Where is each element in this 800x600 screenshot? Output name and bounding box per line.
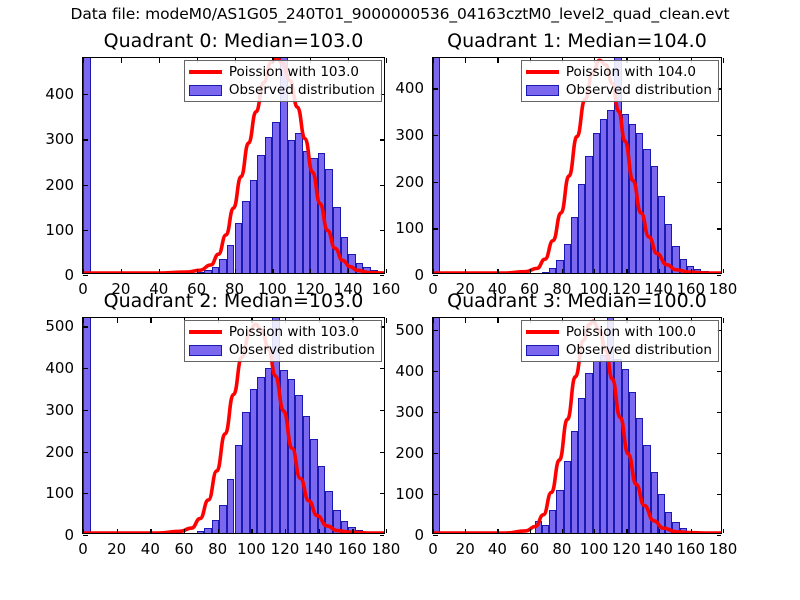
x-tick [83, 529, 84, 534]
histogram-bar [295, 395, 303, 533]
histogram-bar [556, 260, 563, 273]
histogram-bar [600, 119, 607, 273]
x-tick-top [433, 58, 434, 63]
y-tick-label: 300 [378, 126, 424, 144]
histogram-bar [564, 461, 571, 533]
x-tick [691, 269, 692, 274]
legend-label-poisson: Poission with 103.0 [229, 324, 359, 340]
x-tick-label: 120 [296, 280, 325, 298]
legend-entry-observed: Observed distribution [189, 342, 375, 358]
histogram-bar [549, 510, 556, 533]
x-tick-label: 40 [149, 280, 168, 298]
quadrant-3-legend[interactable]: Poission with 100.0Observed distribution [521, 320, 719, 362]
histogram-bar [356, 263, 364, 273]
quadrant-2-poisson-curve [83, 318, 384, 533]
x-tick-label: 20 [107, 540, 126, 558]
x-tick-top [594, 318, 595, 323]
histogram-bar [701, 271, 708, 273]
x-tick-top [562, 318, 563, 323]
legend-entry-poisson: Poission with 103.0 [189, 324, 375, 340]
y-tick [433, 228, 438, 229]
x-tick-label: 0 [428, 540, 438, 558]
y-tick-label: 100 [28, 484, 74, 502]
x-tick-top [235, 58, 236, 63]
legend-label-observed: Observed distribution [566, 342, 712, 358]
histogram-bar [687, 266, 694, 273]
x-tick-top [386, 318, 387, 323]
quadrant-3-title: Quadrant 3: Median=100.0 [432, 290, 722, 312]
panel-quadrant-1: Quadrant 1: Median=104.00100200300400020… [0, 0, 800, 600]
x-tick [386, 529, 387, 534]
histogram-bar [665, 224, 672, 273]
x-tick [319, 529, 320, 534]
x-tick-top [626, 318, 627, 323]
histogram-bar [585, 156, 592, 273]
x-tick [159, 269, 160, 274]
x-tick [530, 529, 531, 534]
histogram-bar [219, 259, 227, 273]
x-tick [497, 529, 498, 534]
quadrant-0-poisson-curve [83, 58, 384, 273]
x-tick [352, 529, 353, 534]
figure-suptitle: Data file: modeM0/AS1G05_240T01_90000005… [0, 5, 800, 23]
x-tick-top [150, 318, 151, 323]
y-tick-label: 100 [28, 221, 74, 239]
histogram-bar [257, 155, 265, 273]
x-tick-top [251, 318, 252, 323]
quadrant-2-title: Quadrant 2: Median=103.0 [82, 290, 385, 312]
histogram-bar [303, 151, 311, 273]
y-tick-label: 200 [28, 176, 74, 194]
x-tick-top [691, 58, 692, 63]
x-tick [121, 269, 122, 274]
histogram-bar [288, 379, 296, 533]
legend-entry-poisson: Poission with 103.0 [189, 64, 375, 80]
y-tick-label: 400 [28, 85, 74, 103]
x-tick-label: 0 [78, 540, 88, 558]
x-tick-top [497, 58, 498, 63]
x-tick-top [723, 318, 724, 323]
quadrant-2-axes: 0100200300400500020406080100120140160180… [82, 317, 385, 534]
quadrant-1-legend[interactable]: Poission with 104.0Observed distribution [521, 60, 719, 102]
x-tick-label: 100 [580, 540, 609, 558]
legend-entry-poisson: Poission with 104.0 [526, 64, 712, 80]
histogram-bar [651, 166, 658, 273]
legend-entry-poisson: Poission with 100.0 [526, 324, 712, 340]
quadrant-0-axes: 0100200300400020406080100120140160Poissi… [82, 57, 385, 274]
y-tick [83, 535, 88, 536]
y-tick [83, 493, 88, 494]
histogram-bar [204, 528, 212, 533]
x-tick [594, 269, 595, 274]
quadrant-2-legend[interactable]: Poission with 103.0Observed distribution [184, 320, 382, 362]
y-tick-right [380, 94, 385, 95]
histogram-bar [593, 133, 600, 273]
histogram-bar [242, 201, 250, 273]
histogram-bar [333, 207, 341, 273]
legend-line-swatch-icon [526, 326, 559, 339]
histogram-bar [643, 149, 650, 273]
histogram-bar [672, 522, 679, 533]
x-tick-top [433, 318, 434, 323]
x-tick-label: 160 [676, 280, 705, 298]
x-tick [626, 529, 627, 534]
y-tick [83, 326, 88, 327]
x-tick [251, 529, 252, 534]
y-tick-right [380, 230, 385, 231]
y-tick [433, 182, 438, 183]
histogram-bar [564, 244, 571, 273]
y-tick-label: 0 [28, 526, 74, 544]
legend-label-observed: Observed distribution [566, 82, 712, 98]
x-tick [83, 269, 84, 274]
x-tick-top [691, 318, 692, 323]
panel-quadrant-3: Quadrant 3: Median=100.00100200300400500… [0, 0, 800, 600]
y-tick-right [380, 410, 385, 411]
y-tick-right [717, 330, 722, 331]
y-tick-label: 400 [28, 359, 74, 377]
y-tick [433, 135, 438, 136]
histogram-bar [542, 525, 549, 533]
y-tick-label: 500 [378, 321, 424, 339]
histogram-bar [622, 369, 629, 533]
quadrant-1-plot-area [433, 58, 721, 273]
y-tick-label: 100 [378, 219, 424, 237]
y-tick-right [717, 535, 722, 536]
y-tick-right [717, 453, 722, 454]
histogram-bar [272, 318, 280, 533]
x-tick [659, 529, 660, 534]
x-tick-top [352, 318, 353, 323]
histogram-bar [212, 520, 220, 533]
x-tick [433, 529, 434, 534]
y-tick [83, 410, 88, 411]
histogram-bar [600, 355, 607, 533]
x-tick-top [285, 318, 286, 323]
y-tick [83, 368, 88, 369]
histogram-bar [333, 510, 341, 533]
legend-entry-observed: Observed distribution [526, 342, 712, 358]
histogram-bar [585, 373, 592, 533]
y-tick [83, 230, 88, 231]
legend-patch-swatch-icon [526, 85, 559, 96]
histogram-bar [680, 259, 687, 273]
histogram-bar [83, 318, 91, 533]
y-tick-label: 500 [28, 317, 74, 335]
legend-entry-observed: Observed distribution [189, 82, 375, 98]
x-tick-label: 80 [225, 280, 244, 298]
legend-label-poisson: Poission with 104.0 [566, 64, 696, 80]
quadrant-2-plot-area [83, 318, 384, 533]
y-tick-right [380, 139, 385, 140]
x-tick-top [594, 58, 595, 63]
histogram-bar [578, 184, 585, 273]
x-tick-top [659, 318, 660, 323]
histogram-bar [250, 389, 258, 533]
y-tick-label: 400 [378, 79, 424, 97]
histogram-bar [665, 512, 672, 533]
y-tick [83, 139, 88, 140]
x-tick-label: 160 [372, 280, 401, 298]
x-tick-top [184, 318, 185, 323]
histogram-bar [535, 521, 542, 533]
x-tick-top [723, 58, 724, 63]
quadrant-0-histogram [83, 58, 384, 273]
histogram-bar [318, 153, 326, 273]
x-tick-top [530, 58, 531, 63]
x-tick [465, 269, 466, 274]
y-tick-right [380, 326, 385, 327]
y-tick [433, 494, 438, 495]
histogram-bar [614, 359, 621, 533]
histogram-bar [607, 110, 614, 273]
histogram-bar [341, 237, 349, 273]
x-tick-top [497, 318, 498, 323]
x-tick [218, 529, 219, 534]
x-tick [433, 269, 434, 274]
histogram-bar [680, 528, 687, 533]
y-tick-right [717, 371, 722, 372]
histogram-bar [571, 431, 578, 533]
x-tick-label: 80 [552, 280, 571, 298]
quadrant-0-legend[interactable]: Poission with 103.0Observed distribution [184, 60, 382, 102]
histogram-bar [280, 370, 288, 533]
x-tick [530, 269, 531, 274]
histogram-bar [310, 439, 318, 533]
histogram-bar [556, 490, 563, 533]
y-tick-right [380, 368, 385, 369]
y-tick-right [717, 182, 722, 183]
histogram-bar [658, 196, 665, 273]
x-tick [562, 269, 563, 274]
y-tick-right [380, 535, 385, 536]
histogram-bar [257, 377, 265, 533]
histogram-bar [363, 267, 371, 273]
histogram-bar [272, 122, 280, 273]
histogram-bar [341, 521, 349, 533]
x-tick-top [348, 58, 349, 63]
x-tick-top [465, 58, 466, 63]
x-tick-label: 80 [552, 540, 571, 558]
histogram-bar [643, 445, 650, 533]
histogram-bar [242, 412, 250, 533]
x-tick [723, 269, 724, 274]
x-tick-top [121, 58, 122, 63]
x-tick-top [659, 58, 660, 63]
legend-label-poisson: Poission with 100.0 [566, 324, 696, 340]
histogram-bar [433, 318, 440, 533]
histogram-bar [433, 58, 440, 273]
x-tick [197, 269, 198, 274]
histogram-bar [219, 505, 227, 533]
histogram-bar [83, 58, 91, 273]
x-tick [562, 529, 563, 534]
x-tick-label: 180 [709, 280, 738, 298]
y-tick-right [380, 185, 385, 186]
y-tick-label: 200 [378, 444, 424, 462]
histogram-bar [227, 245, 235, 273]
legend-patch-swatch-icon [526, 345, 559, 356]
histogram-bar [227, 479, 235, 533]
histogram-bar [265, 368, 273, 533]
histogram-bar [212, 267, 220, 273]
y-tick [83, 275, 88, 276]
y-tick-label: 200 [378, 173, 424, 191]
histogram-bar [716, 272, 721, 273]
x-tick-label: 140 [304, 540, 333, 558]
x-tick-top [159, 58, 160, 63]
y-tick [83, 94, 88, 95]
x-tick-label: 60 [520, 540, 539, 558]
quadrant-3-axes: 0100200300400500020406080100120140160180… [432, 317, 722, 534]
quadrant-3-histogram [433, 318, 721, 533]
y-tick [433, 275, 438, 276]
x-tick [465, 529, 466, 534]
histogram-bar [672, 246, 679, 273]
y-tick-label: 0 [28, 266, 74, 284]
x-tick-label: 140 [644, 280, 673, 298]
quadrant-1-axes: 0100200300400020406080100120140160180Poi… [432, 57, 722, 274]
x-tick [310, 269, 311, 274]
x-tick-top [530, 318, 531, 323]
histogram-bar [371, 532, 379, 533]
legend-patch-swatch-icon [189, 85, 222, 96]
histogram-bar [629, 392, 636, 533]
x-tick-label: 180 [372, 540, 401, 558]
y-tick-label: 200 [28, 443, 74, 461]
x-tick [184, 529, 185, 534]
x-tick-label: 120 [612, 280, 641, 298]
histogram-bar [371, 270, 379, 273]
legend-label-poisson: Poission with 103.0 [229, 64, 359, 80]
histogram-bar [235, 445, 243, 533]
histogram-bar [709, 532, 716, 533]
histogram-bar [701, 532, 708, 533]
histogram-bar [622, 114, 629, 273]
legend-label-observed: Observed distribution [229, 82, 375, 98]
y-tick-right [717, 135, 722, 136]
y-tick-label: 0 [378, 266, 424, 284]
x-tick-top [83, 318, 84, 323]
quadrant-1-title: Quadrant 1: Median=104.0 [432, 30, 722, 52]
y-tick [433, 412, 438, 413]
y-tick-label: 300 [28, 401, 74, 419]
histogram-bar [197, 272, 205, 273]
x-tick-top [218, 318, 219, 323]
histogram-bar [629, 124, 636, 273]
y-tick-label: 0 [378, 526, 424, 544]
x-tick-label: 100 [580, 280, 609, 298]
quadrant-3-plot-area [433, 318, 721, 533]
y-tick-label: 300 [378, 403, 424, 421]
histogram-bar [593, 361, 600, 533]
histogram-bar [295, 133, 303, 273]
x-tick [386, 269, 387, 274]
legend-line-swatch-icon [189, 66, 222, 79]
histogram-bar [348, 254, 356, 273]
histogram-bar [687, 531, 694, 533]
y-tick-label: 100 [378, 485, 424, 503]
quadrant-1-histogram [433, 58, 721, 273]
x-tick [691, 529, 692, 534]
histogram-bar [694, 532, 701, 533]
y-tick-right [717, 88, 722, 89]
x-tick-label: 140 [644, 540, 673, 558]
histogram-bar [325, 169, 333, 273]
x-tick-top [310, 58, 311, 63]
x-tick-top [117, 318, 118, 323]
x-tick-label: 180 [709, 540, 738, 558]
histogram-bar [636, 418, 643, 533]
y-tick [433, 535, 438, 536]
x-tick-top [465, 318, 466, 323]
histogram-bar [378, 532, 384, 533]
x-tick-label: 20 [456, 540, 475, 558]
histogram-bar [709, 272, 716, 273]
x-tick-label: 80 [208, 540, 227, 558]
x-tick [626, 269, 627, 274]
quadrant-0-plot-area [83, 58, 384, 273]
histogram-bar [325, 491, 333, 533]
y-tick-right [717, 275, 722, 276]
x-tick [285, 529, 286, 534]
figure-canvas: Data file: modeM0/AS1G05_240T01_90000005… [0, 0, 800, 600]
legend-label-observed: Observed distribution [229, 342, 375, 358]
x-tick-label: 40 [488, 540, 507, 558]
histogram-bar [607, 318, 614, 533]
y-tick [433, 88, 438, 89]
histogram-bar [658, 494, 665, 533]
x-tick-label: 100 [258, 280, 287, 298]
x-tick [497, 269, 498, 274]
x-tick-label: 60 [520, 280, 539, 298]
panel-quadrant-0: Quadrant 0: Median=103.00100200300400020… [0, 0, 800, 600]
x-tick [594, 529, 595, 534]
x-tick-label: 120 [612, 540, 641, 558]
histogram-bar [288, 140, 296, 273]
histogram-bar [235, 223, 243, 273]
histogram-bar [614, 58, 621, 273]
x-tick [723, 529, 724, 534]
quadrant-1-poisson-curve [433, 58, 721, 273]
y-tick-right [717, 228, 722, 229]
histogram-bar [363, 532, 371, 533]
y-tick-right [717, 494, 722, 495]
x-tick [117, 529, 118, 534]
y-tick [433, 453, 438, 454]
y-tick-right [717, 412, 722, 413]
x-tick-top [562, 58, 563, 63]
x-tick-label: 160 [338, 540, 367, 558]
x-tick [150, 529, 151, 534]
histogram-bar [549, 268, 556, 273]
y-tick [83, 452, 88, 453]
x-tick-label: 0 [78, 280, 88, 298]
histogram-bar [265, 137, 273, 273]
x-tick [659, 269, 660, 274]
x-tick-label: 160 [676, 540, 705, 558]
x-tick-label: 40 [488, 280, 507, 298]
x-tick-top [626, 58, 627, 63]
quadrant-3-poisson-curve [433, 318, 721, 533]
y-tick-label: 400 [378, 362, 424, 380]
x-tick-label: 140 [334, 280, 363, 298]
x-tick [348, 269, 349, 274]
x-tick-label: 20 [456, 280, 475, 298]
y-tick-right [380, 452, 385, 453]
histogram-bar [636, 133, 643, 273]
histogram-bar [651, 472, 658, 533]
